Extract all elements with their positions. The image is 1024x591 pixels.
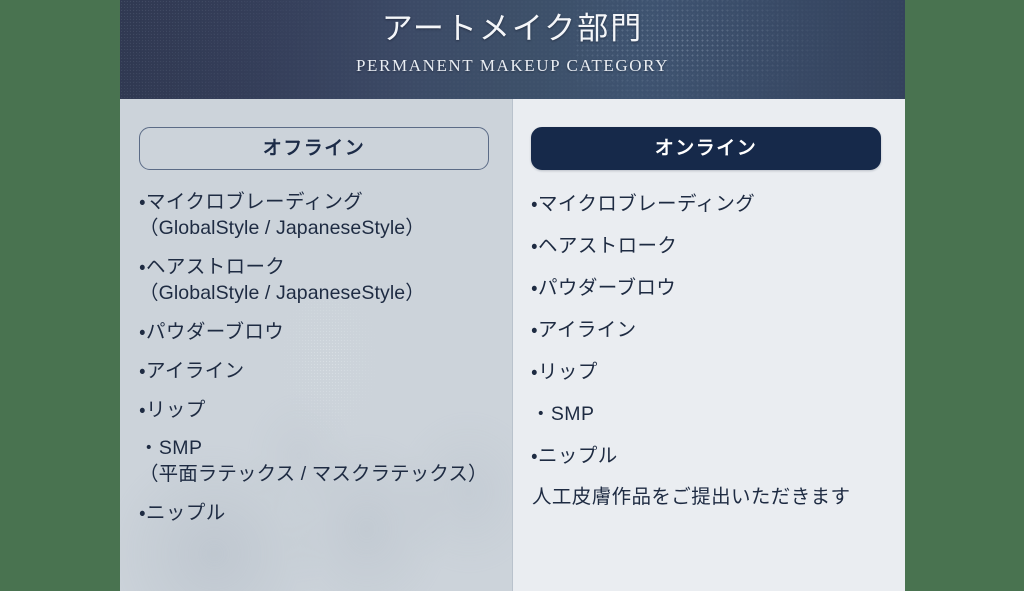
list-item: ・リップ xyxy=(531,360,885,386)
list-item: ・ヘアストローク （GlobalStyle / JapaneseStyle） xyxy=(139,255,492,307)
list-item: ・ヘアストローク xyxy=(531,234,885,260)
column-offline: オフライン ・マイクロブレーディング （GlobalStyle / Japane… xyxy=(120,99,513,591)
list-item-label: ・リップ xyxy=(139,398,492,424)
online-submission-note: 人工皮膚作品をご提出いただきます xyxy=(531,485,885,511)
list-item-sublabel: （平面ラテックス / マスクラテックス） xyxy=(139,462,492,488)
online-service-list: ・マイクロブレーディング ・ヘアストローク ・パウダーブロウ ・アイライン ・リ… xyxy=(531,192,885,469)
list-item: ・リップ xyxy=(139,398,492,424)
list-item: ・ニップル xyxy=(531,444,885,470)
list-item-sublabel: （GlobalStyle / JapaneseStyle） xyxy=(139,216,492,242)
list-item: ・SMP xyxy=(531,402,885,428)
page-title-jp: アートメイク部門 xyxy=(120,11,905,47)
list-item: ・マイクロブレーディング xyxy=(531,192,885,218)
online-column-content: オンライン ・マイクロブレーディング ・ヘアストローク ・パウダーブロウ ・アイ… xyxy=(513,99,905,511)
page-header-banner: アートメイク部門 PERMANENT MAKEUP CATEGORY xyxy=(120,0,905,99)
list-item-label: ・ニップル xyxy=(139,501,492,527)
list-item: ・ニップル xyxy=(139,501,492,527)
category-columns: オフライン ・マイクロブレーディング （GlobalStyle / Japane… xyxy=(120,99,905,591)
list-item-label: ・アイライン xyxy=(531,318,885,344)
list-item-label: ・ヘアストローク xyxy=(531,234,885,260)
offline-service-list: ・マイクロブレーディング （GlobalStyle / JapaneseStyl… xyxy=(139,190,492,527)
list-item: ・マイクロブレーディング （GlobalStyle / JapaneseStyl… xyxy=(139,190,492,242)
list-item: ・SMP （平面ラテックス / マスクラテックス） xyxy=(139,436,492,488)
page-subtitle-en: PERMANENT MAKEUP CATEGORY xyxy=(120,56,905,76)
list-item-label: ・マイクロブレーディング xyxy=(139,190,492,216)
list-item: ・アイライン xyxy=(531,318,885,344)
header-title-block: アートメイク部門 PERMANENT MAKEUP CATEGORY xyxy=(120,0,905,76)
list-item-label: ・パウダーブロウ xyxy=(139,320,492,346)
list-item-label: ・ヘアストローク xyxy=(139,255,492,281)
list-item-label: ・ニップル xyxy=(531,444,885,470)
list-item-label: ・アイライン xyxy=(139,359,492,385)
category-page: アートメイク部門 PERMANENT MAKEUP CATEGORY オフライン… xyxy=(120,0,905,591)
list-item-label: ・パウダーブロウ xyxy=(531,276,885,302)
list-item: ・アイライン xyxy=(139,359,492,385)
offline-column-content: オフライン ・マイクロブレーディング （GlobalStyle / Japane… xyxy=(120,99,512,527)
list-item-label: ・リップ xyxy=(531,360,885,386)
tab-offline[interactable]: オフライン xyxy=(139,127,489,170)
column-online: オンライン ・マイクロブレーディング ・ヘアストローク ・パウダーブロウ ・アイ… xyxy=(513,99,905,591)
tab-online[interactable]: オンライン xyxy=(531,127,881,170)
list-item-sublabel: （GlobalStyle / JapaneseStyle） xyxy=(139,281,492,307)
list-item-label: ・SMP xyxy=(139,436,492,462)
list-item-label: ・SMP xyxy=(531,402,885,428)
list-item: ・パウダーブロウ xyxy=(139,320,492,346)
list-item: ・パウダーブロウ xyxy=(531,276,885,302)
list-item-label: ・マイクロブレーディング xyxy=(531,192,885,218)
